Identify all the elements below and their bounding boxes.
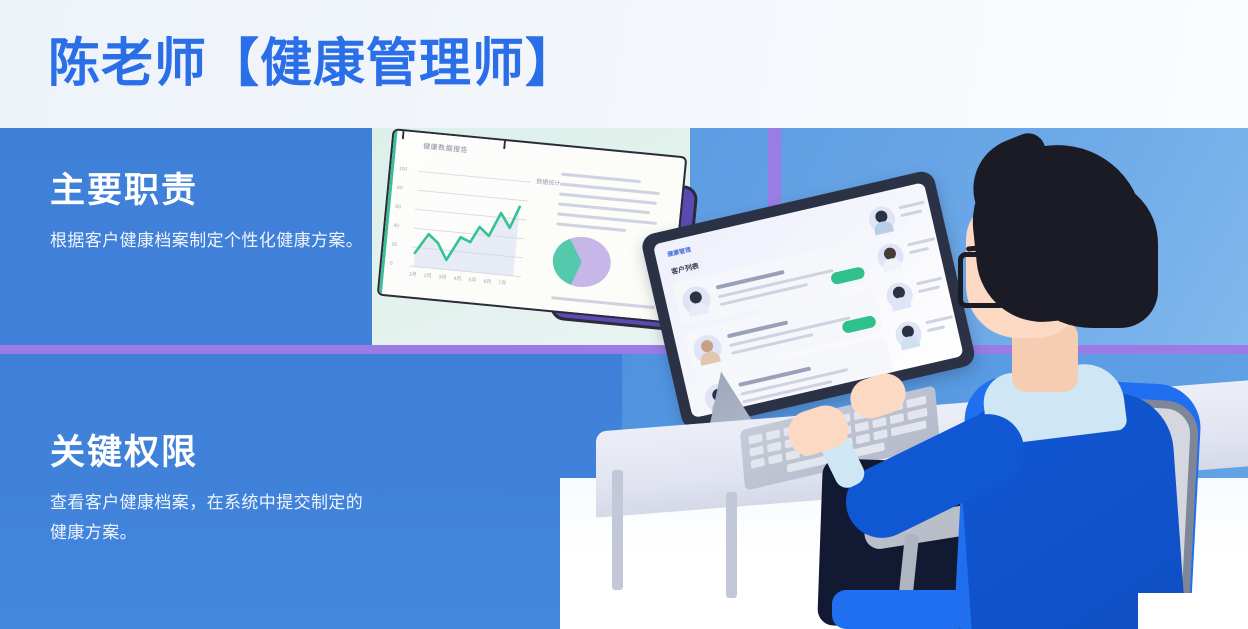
panel-body-permissions: 查看客户健康档案，在系统中提交制定的健康方案。 [50, 488, 380, 548]
desk-leg [612, 470, 623, 590]
panel-body-duties: 根据客户健康档案制定个性化健康方案。 [50, 226, 380, 256]
panel-heading-duties: 主要职责 [50, 170, 380, 212]
page-title: 陈老师【健康管理师】 [48, 34, 578, 94]
tablet-list-heading: 客户列表 [670, 261, 700, 277]
report-line-chart: 100 80 60 40 20 0 1月 2月 3月 4月 5月 6月 7月 [409, 171, 530, 279]
corner-accent [1138, 593, 1248, 629]
avatar [680, 284, 714, 318]
report-card-front: 健康数据报告 数据统计 100 80 60 40 20 0 1月 [377, 128, 688, 324]
report-subtitle: 数据统计 [536, 176, 561, 187]
line-chart-svg [409, 171, 530, 279]
banner-header: 陈老师【健康管理师】 [0, 0, 1248, 128]
panel-heading-permissions: 关键权限 [50, 432, 380, 474]
glasses-lens [958, 252, 1008, 308]
tablet-app-logo: 健康管理 [666, 244, 691, 258]
report-card-accent-edge [379, 130, 398, 294]
row-action-button[interactable] [830, 266, 866, 285]
desk-leg [726, 492, 737, 598]
report-donut-chart [551, 234, 614, 289]
person-illustration [880, 140, 1248, 629]
panel-key-permissions: 关键权限 查看客户健康档案，在系统中提交制定的健康方案。 [50, 432, 380, 548]
banner-stage: 健康数据报告 数据统计 100 80 60 40 20 0 1月 [0, 0, 1248, 629]
panel-main-duties: 主要职责 根据客户健康档案制定个性化健康方案。 [50, 170, 380, 256]
avatar [691, 332, 725, 366]
